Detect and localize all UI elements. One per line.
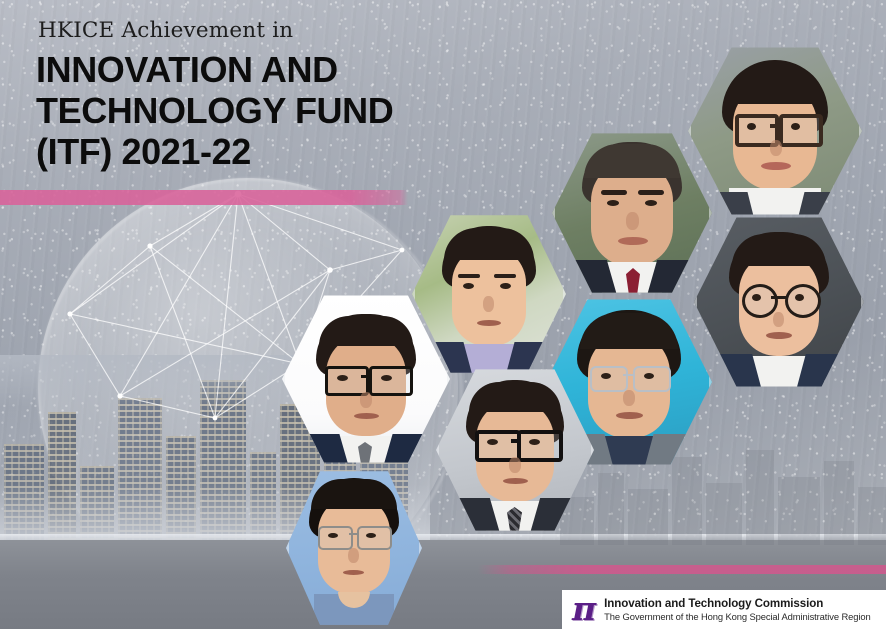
title-line-3: (ITF) 2021-22 — [36, 131, 466, 172]
poster-canvas: HKICE Achievement in INNOVATION AND TECH… — [0, 0, 886, 629]
organisation-name: Innovation and Technology Commission — [604, 597, 870, 611]
pink-accent-bar-bottom — [478, 565, 886, 574]
title-line-1: INNOVATION AND — [36, 49, 466, 90]
title-line-2: TECHNOLOGY FUND — [36, 90, 466, 131]
page-title: INNOVATION AND TECHNOLOGY FUND (ITF) 202… — [36, 49, 466, 172]
pi-symbol-icon: π — [572, 592, 596, 625]
itc-logo-panel: π Innovation and Technology Commission T… — [562, 590, 886, 629]
headline-kicker: HKICE Achievement in — [38, 18, 466, 43]
government-name: The Government of the Hong Kong Special … — [604, 611, 870, 622]
pink-accent-bar-top — [0, 190, 408, 205]
headline-block: HKICE Achievement in INNOVATION AND TECH… — [36, 18, 466, 172]
itc-logo-text: Innovation and Technology Commission The… — [604, 597, 870, 622]
